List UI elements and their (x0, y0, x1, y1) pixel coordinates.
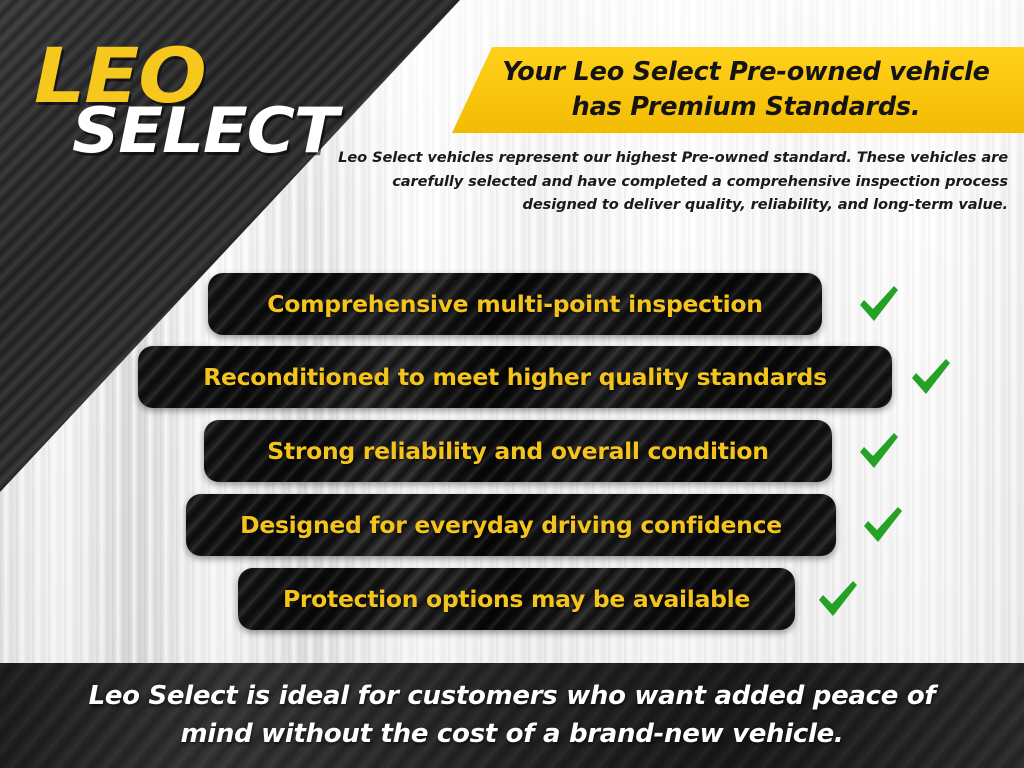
check-icon (854, 280, 902, 328)
feature-row: Strong reliability and overall condition (204, 420, 902, 482)
feature-list: Comprehensive multi-point inspection Rec… (0, 268, 1024, 648)
headline-text: Your Leo Select Pre-owned vehicle has Pr… (474, 55, 1019, 125)
feature-row: Comprehensive multi-point inspection (208, 273, 902, 335)
feature-pill: Designed for everyday driving confidence (186, 494, 836, 556)
footer-band: Leo Select is ideal for customers who wa… (0, 663, 1024, 768)
check-icon (854, 427, 902, 475)
check-icon (858, 501, 906, 549)
footer-text: Leo Select is ideal for customers who wa… (62, 678, 962, 753)
brand-logo: LEO SELECT (30, 38, 330, 178)
feature-label: Strong reliability and overall condition (267, 437, 768, 465)
check-icon (813, 575, 861, 623)
feature-label: Comprehensive multi-point inspection (267, 290, 762, 318)
feature-label: Protection options may be available (283, 585, 750, 613)
feature-row: Designed for everyday driving confidence (186, 494, 906, 556)
feature-label: Designed for everyday driving confidence (240, 511, 782, 539)
feature-pill: Comprehensive multi-point inspection (208, 273, 822, 335)
check-icon (906, 353, 954, 401)
brand-logo-secondary: SELECT (72, 100, 338, 162)
feature-pill: Protection options may be available (238, 568, 795, 630)
feature-pill: Strong reliability and overall condition (204, 420, 832, 482)
feature-pill: Reconditioned to meet higher quality sta… (138, 346, 892, 408)
feature-label: Reconditioned to meet higher quality sta… (203, 363, 827, 391)
intro-paragraph: Leo Select vehicles represent our highes… (316, 146, 1008, 217)
feature-row: Protection options may be available (238, 568, 861, 630)
headline-banner: Your Leo Select Pre-owned vehicle has Pr… (440, 47, 1024, 133)
leo-select-promo-poster: LEO SELECT Your Leo Select Pre-owned veh… (0, 0, 1024, 768)
feature-row: Reconditioned to meet higher quality sta… (138, 346, 954, 408)
